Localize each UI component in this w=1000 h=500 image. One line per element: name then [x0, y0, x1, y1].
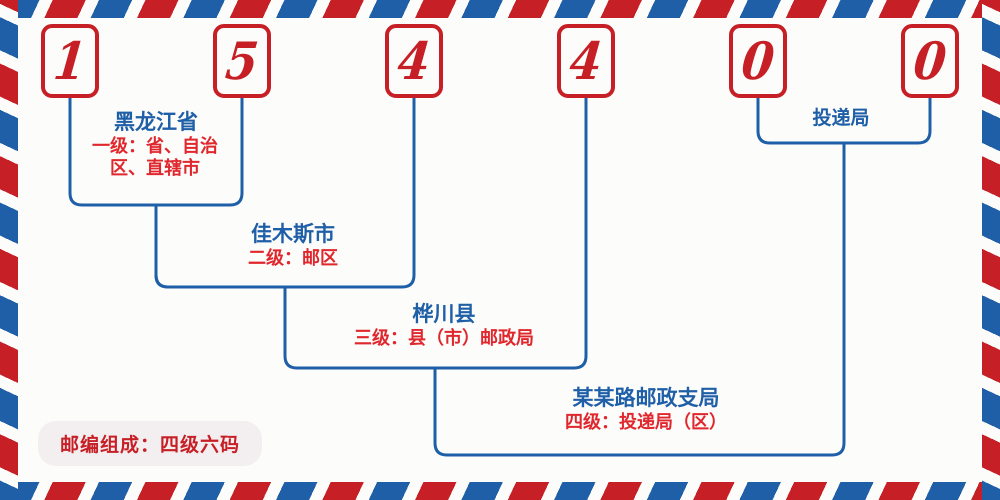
level-4-title: 某某路邮政支局	[528, 386, 764, 410]
level-4-subtitle: 四级：投递局（区）	[528, 412, 764, 434]
postcode-composition-badge: 邮编组成：四级六码	[38, 421, 262, 466]
level-2-subtitle: 二级：邮区	[210, 248, 376, 270]
envelope-postcode-diagram: 1 5 4 4 0 0 投递局 黑龙江省 一级：省、自治区、直辖市 佳木斯市 二…	[0, 0, 1000, 500]
postcode-composition-text: 邮编组成：四级六码	[60, 434, 240, 456]
level-1-label: 黑龙江省 一级：省、自治区、直辖市	[80, 110, 232, 179]
level-4-label: 某某路邮政支局 四级：投递局（区）	[528, 386, 764, 434]
level-1-title: 黑龙江省	[80, 110, 232, 134]
level-1-subtitle: 一级：省、自治区、直辖市	[80, 136, 230, 179]
level-3-subtitle: 三级：县（市）邮政局	[312, 328, 576, 350]
stem-level-1	[156, 205, 168, 287]
delivery-office-title: 投递局	[782, 108, 900, 130]
level-2-label: 佳木斯市 二级：邮区	[210, 222, 376, 270]
delivery-office-label: 投递局	[782, 108, 900, 130]
level-3-title: 桦川县	[312, 302, 576, 326]
level-3-label: 桦川县 三级：县（市）邮政局	[312, 302, 576, 350]
level-2-title: 佳木斯市	[210, 222, 376, 246]
